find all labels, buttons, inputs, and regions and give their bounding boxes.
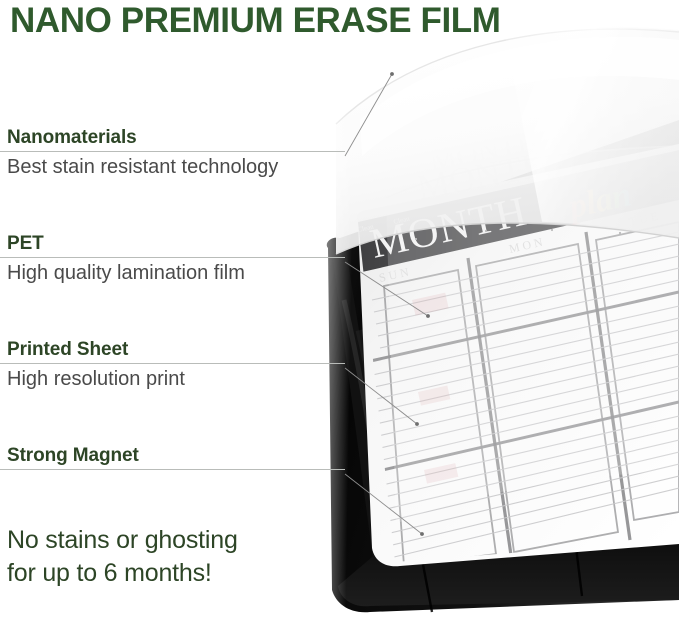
product-infographic: MONTH plan SUN MON TUE Clean Clean xyxy=(0,0,679,644)
feature-title-pet: PET xyxy=(0,232,360,256)
feature-block-strong-magnet: Strong Magnet xyxy=(0,444,360,470)
feature-subtitle-printed-sheet: High resolution print xyxy=(0,364,360,392)
claim-line-2: for up to 6 months! xyxy=(7,557,347,590)
feature-title-nanomaterials: Nanomaterials xyxy=(0,126,360,150)
leader-dot-printed-sheet xyxy=(415,422,419,426)
product-photo: MONTH plan SUN MON TUE Clean Clean xyxy=(300,0,679,644)
claim-text: No stains or ghosting for up to 6 months… xyxy=(7,524,347,590)
feature-block-printed-sheet: Printed Sheet High resolution print xyxy=(0,338,360,392)
feature-title-strong-magnet: Strong Magnet xyxy=(0,444,360,468)
leader-dot-pet xyxy=(426,314,430,318)
claim-line-1: No stains or ghosting xyxy=(7,524,347,557)
feature-subtitle-nanomaterials: Best stain resistant technology xyxy=(0,152,360,180)
feature-subtitle-pet: High quality lamination film xyxy=(0,258,360,286)
page-title: NANO PREMIUM ERASE FILM xyxy=(10,1,501,41)
feature-title-printed-sheet: Printed Sheet xyxy=(0,338,360,362)
feature-block-nanomaterials: Nanomaterials Best stain resistant techn… xyxy=(0,126,360,180)
feature-divider-strong-magnet xyxy=(0,469,345,470)
leader-dot-nanomaterials xyxy=(390,72,394,76)
feature-block-pet: PET High quality lamination film xyxy=(0,232,360,286)
leader-dot-strong-magnet xyxy=(420,532,424,536)
